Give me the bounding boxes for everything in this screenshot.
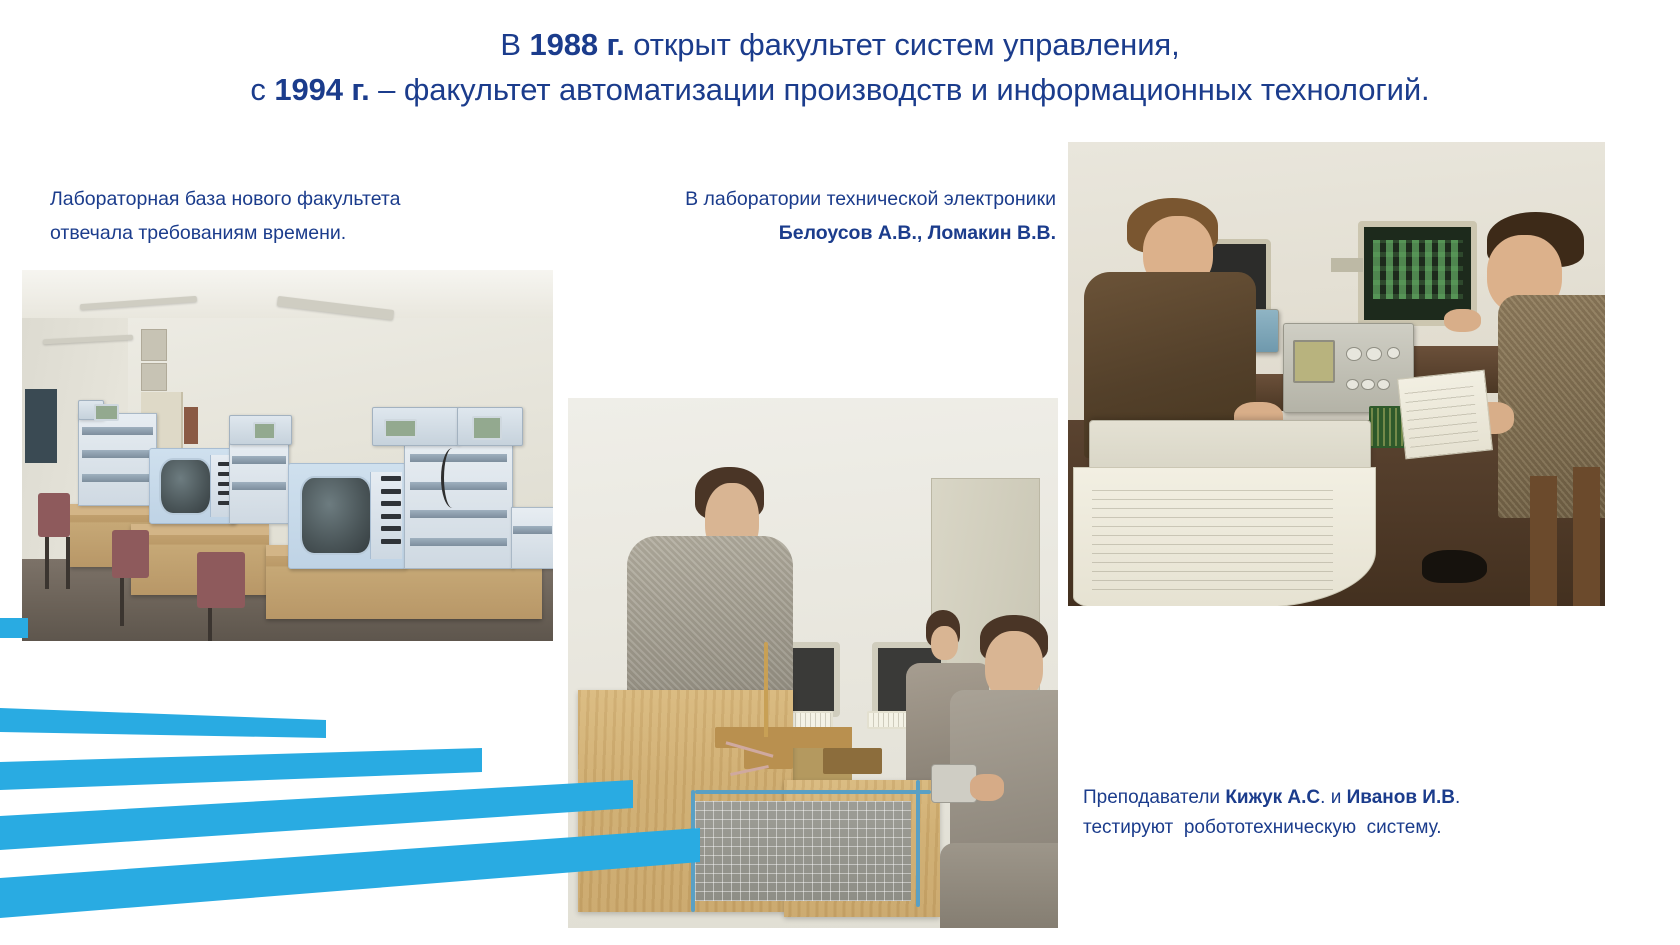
- title-line-1: В 1988 г. открыт факультет систем управл…: [0, 22, 1680, 67]
- title-line2-year: 1994 г.: [274, 72, 369, 107]
- caption-electronics-lab-line1: В лаборатории технической электроники: [676, 182, 1056, 216]
- stripe-3: [0, 748, 482, 790]
- caption-robotics-testers-line2: тестируют робототехническую систему.: [1083, 813, 1460, 843]
- title-line1-year: 1988 г.: [529, 27, 624, 62]
- photo-lab-classroom-scene: [22, 270, 553, 641]
- title-line1-pre: В: [500, 27, 529, 62]
- caption-electronics-lab-names: Белоусов А.В., Ломакин В.В.: [676, 216, 1056, 250]
- title-line-2: с 1994 г. – факультет автоматизации прои…: [0, 67, 1680, 112]
- photo-electronics-lab: [1068, 142, 1605, 606]
- caption-robotics-name-2: Иванов И.В: [1347, 787, 1455, 808]
- caption-robotics-pre: Преподаватели: [1083, 787, 1225, 808]
- caption-lab-base: Лабораторная база нового факультета отве…: [50, 182, 400, 250]
- page-title: В 1988 г. открыт факультет систем управл…: [0, 22, 1680, 112]
- photo-electronics-lab-scene: [1068, 142, 1605, 606]
- caption-robotics-post: .: [1455, 787, 1460, 808]
- caption-lab-base-line2: отвечала требованиям времени.: [50, 216, 400, 250]
- stripe-4: [0, 780, 633, 850]
- caption-robotics-name-1: Кижук А.С: [1225, 787, 1320, 808]
- photo-robotics-demo: [568, 398, 1058, 928]
- caption-robotics-mid: . и: [1320, 787, 1346, 808]
- caption-robotics-testers-line1: Преподаватели Кижук А.С. и Иванов И.В.: [1083, 783, 1460, 813]
- photo-robotics-demo-scene: [568, 398, 1058, 928]
- stripe-2: [0, 708, 326, 738]
- title-line2-pre: с: [250, 72, 274, 107]
- caption-electronics-lab: В лаборатории технической электроники Бе…: [676, 182, 1056, 250]
- title-line2-post: – факультет автоматизации производств и …: [370, 72, 1430, 107]
- photo-lab-classroom: [22, 270, 553, 641]
- caption-robotics-testers: Преподаватели Кижук А.С. и Иванов И.В. т…: [1083, 783, 1460, 843]
- title-line1-post: открыт факультет систем управления,: [625, 27, 1180, 62]
- caption-lab-base-line1: Лабораторная база нового факультета: [50, 182, 400, 216]
- caption-electronics-lab-names-text: Белоусов А.В., Ломакин В.В.: [779, 222, 1056, 244]
